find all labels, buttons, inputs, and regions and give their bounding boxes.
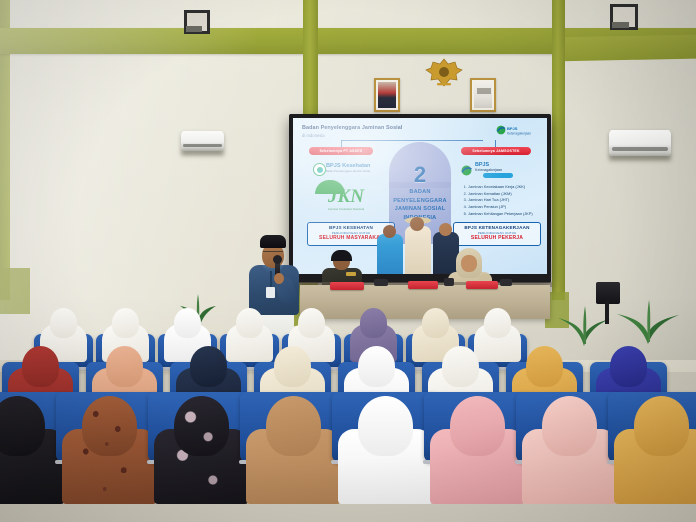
- table-bottle: [444, 278, 454, 286]
- jkn-wordmark: JKN: [309, 187, 383, 206]
- slide-program-item: Jaminan Hari Tua (JHT): [468, 197, 545, 204]
- participant-gold-hijab-head: [634, 396, 689, 456]
- participant-white-hijab-head: [298, 308, 325, 338]
- participant-rose-hijab-head: [542, 396, 597, 456]
- audience-area: [0, 300, 696, 522]
- participant-white-shirt-head: [358, 396, 413, 456]
- participant-gold-hijab-head: [526, 346, 563, 387]
- slide-program-list: Jaminan Kecelakaan Kerja (JKK)Jaminan Ke…: [461, 184, 545, 218]
- participant-cream-hijab-head: [274, 346, 311, 387]
- slide-corner-logo-icon: BPJS Ketenagakerjaan: [496, 123, 540, 134]
- presentation-slide: Badan Penyelenggara Jaminan Sosial di In…: [293, 118, 547, 274]
- red-document-folder: [408, 281, 438, 289]
- slide-program-item: Jaminan Kecelakaan Kerja (JKK): [468, 184, 545, 191]
- participant-red-outfit-head: [22, 346, 59, 387]
- bpjs-kesehatan-tagline: Badan Penyelenggara Jaminan Sosial: [326, 170, 370, 173]
- table-device: [500, 279, 512, 286]
- garuda-emblem-icon: [424, 56, 464, 90]
- vice-president-portrait: [470, 78, 496, 112]
- bpjs-kesehatan-logo-icon: BPJS Kesehatan Badan Penyelenggara Jamin…: [313, 162, 375, 175]
- red-document-folder: [466, 281, 498, 289]
- red-document-folder: [330, 282, 364, 290]
- participant-white-hijab-head: [484, 308, 511, 338]
- participant-blue-hijab-head: [610, 346, 647, 387]
- participant-pink-hijab-head: [450, 396, 505, 456]
- banner-right-line3: SELURUH PEKERJA: [454, 235, 540, 241]
- participant-navy-hijab-head: [190, 346, 227, 387]
- bpjs-kesehatan-wordmark: BPJS Kesehatan: [326, 163, 370, 169]
- slide-program-item: Jaminan Kematian (JKM): [468, 191, 545, 198]
- slide-program-item: Jaminan Kehilangan Pekerjaan (JKP): [468, 211, 545, 218]
- slide-subtitle: di Indonesia: [302, 133, 325, 138]
- wall-frame-right-shadow: [612, 22, 629, 28]
- participant-cream-hijab-head: [422, 308, 449, 338]
- participant-purple-hijab-head: [360, 308, 387, 338]
- participant-white-hijab-head: [236, 308, 263, 338]
- participant-white-hijab-head: [50, 308, 77, 338]
- participant-white-shirt-head: [358, 346, 395, 387]
- event-photograph: Badan Penyelenggara Jaminan Sosial di In…: [0, 0, 696, 522]
- bpjs-ket-badge: [483, 173, 513, 178]
- slide-pill-jamsostek: Sebelumnya JAMSOSTEK: [461, 147, 531, 155]
- bpjs-ket-wordmark-2: Ketenagakerjaan: [475, 168, 502, 172]
- slide-program-item: Jaminan Pensiun (JP): [468, 204, 545, 211]
- participant-white-shirt-head: [174, 308, 201, 338]
- slide-title: Badan Penyelenggara Jaminan Sosial: [302, 125, 402, 132]
- participant-peach-hijab-head: [106, 346, 143, 387]
- jkn-logo-icon: JKN Jaminan Kesehatan Nasional: [309, 180, 383, 216]
- air-conditioner-right-icon: [609, 130, 671, 156]
- wall-frame-left-shadow: [186, 26, 202, 32]
- slide-pill-askes: Sebelumnya PT ASKES: [309, 147, 373, 155]
- participant-white-hijab-head: [112, 308, 139, 338]
- svg-text:Ketenagakerjaan: Ketenagakerjaan: [507, 131, 531, 135]
- bpjs-ketenagakerjaan-logo-icon: BPJS Ketenagakerjaan: [461, 162, 531, 178]
- president-portrait: [374, 78, 400, 112]
- table-microphone: [374, 279, 388, 286]
- jkn-caption: Jaminan Kesehatan Nasional: [309, 208, 383, 211]
- participant-batik-outfit-head: [82, 396, 137, 456]
- participant-tan-hijab-head: [266, 396, 321, 456]
- peci-cap: [260, 235, 286, 248]
- slide-center-number: 2: [389, 164, 451, 186]
- id-badge: [266, 287, 275, 298]
- slide-banner-ketenagakerjaan: BPJS KETENAGAKERJAAN PERLINDUNGAN UNTUK …: [453, 222, 541, 246]
- participant-floral-hijab-head: [174, 396, 229, 456]
- participant-white-hijab-head: [442, 346, 479, 387]
- air-conditioner-left-icon: [181, 131, 224, 151]
- svg-text:BPJS: BPJS: [507, 126, 518, 131]
